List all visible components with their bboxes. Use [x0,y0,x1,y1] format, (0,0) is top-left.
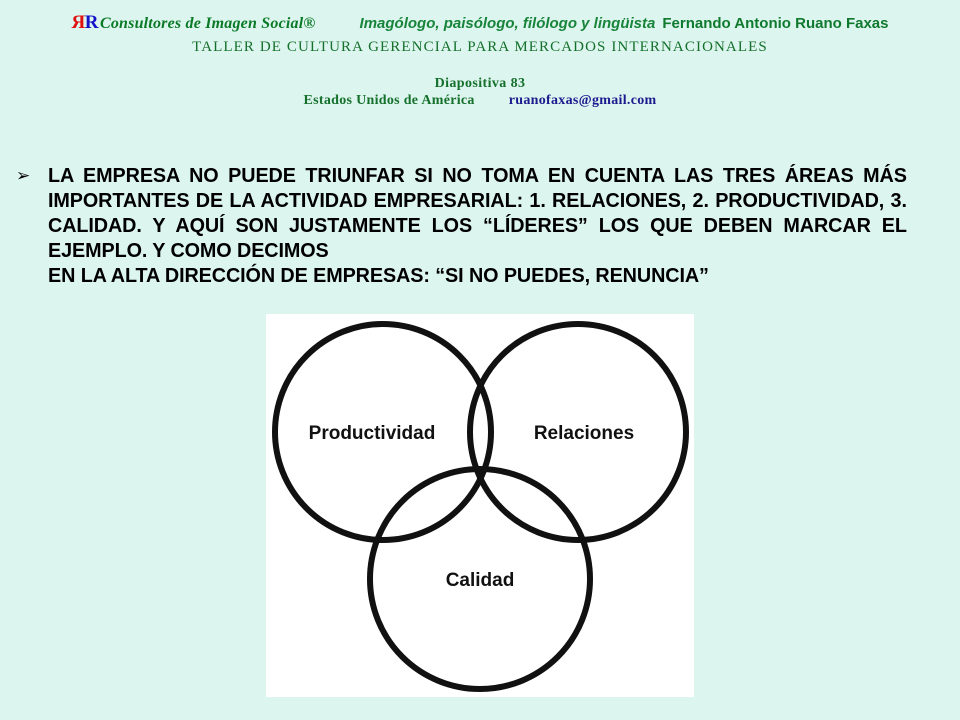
bullet-block: ➢ LA EMPRESA NO PUEDE TRIUNFAR SI NO TOM… [14,163,938,288]
country-label: Estados Unidos de América [304,93,475,108]
slide-number-label: Diapositiva 83 [0,76,960,92]
logo-reversed-r-icon: Я [72,12,85,33]
venn-label-calidad: Calidad [446,570,515,591]
venn-label-relaciones: Relaciones [534,423,634,444]
brand-line: ЯRConsultores de Imagen Social®Imagólogo… [0,12,960,34]
bullet-arrow-icon: ➢ [16,167,36,185]
bullet-paragraph-last-line: EN LA ALTA DIRECCIÓN DE EMPRESAS: “SI NO… [48,263,907,288]
venn-diagram: Productividad Relaciones Calidad [266,314,694,697]
author-name: Fernando Antonio Ruano Faxas [655,15,888,32]
venn-diagram-panel: Productividad Relaciones Calidad [266,314,694,697]
workshop-title: TALLER DE CULTURA GERENCIAL PARA MERCADO… [0,39,960,56]
venn-label-productividad: Productividad [309,423,436,444]
brand-name: Consultores de Imagen Social® [98,15,316,32]
author-roles: Imagólogo, paisólogo, filólogo y lingüis… [360,15,656,32]
contact-line: Estados Unidos de Américaruanofaxas@gmai… [0,93,960,109]
logo-r-icon: R [85,12,98,33]
email-address: ruanofaxas@gmail.com [509,93,657,108]
bullet-paragraph-main: LA EMPRESA NO PUEDE TRIUNFAR SI NO TOMA … [48,164,907,262]
bullet-paragraph: LA EMPRESA NO PUEDE TRIUNFAR SI NO TOMA … [48,163,907,288]
